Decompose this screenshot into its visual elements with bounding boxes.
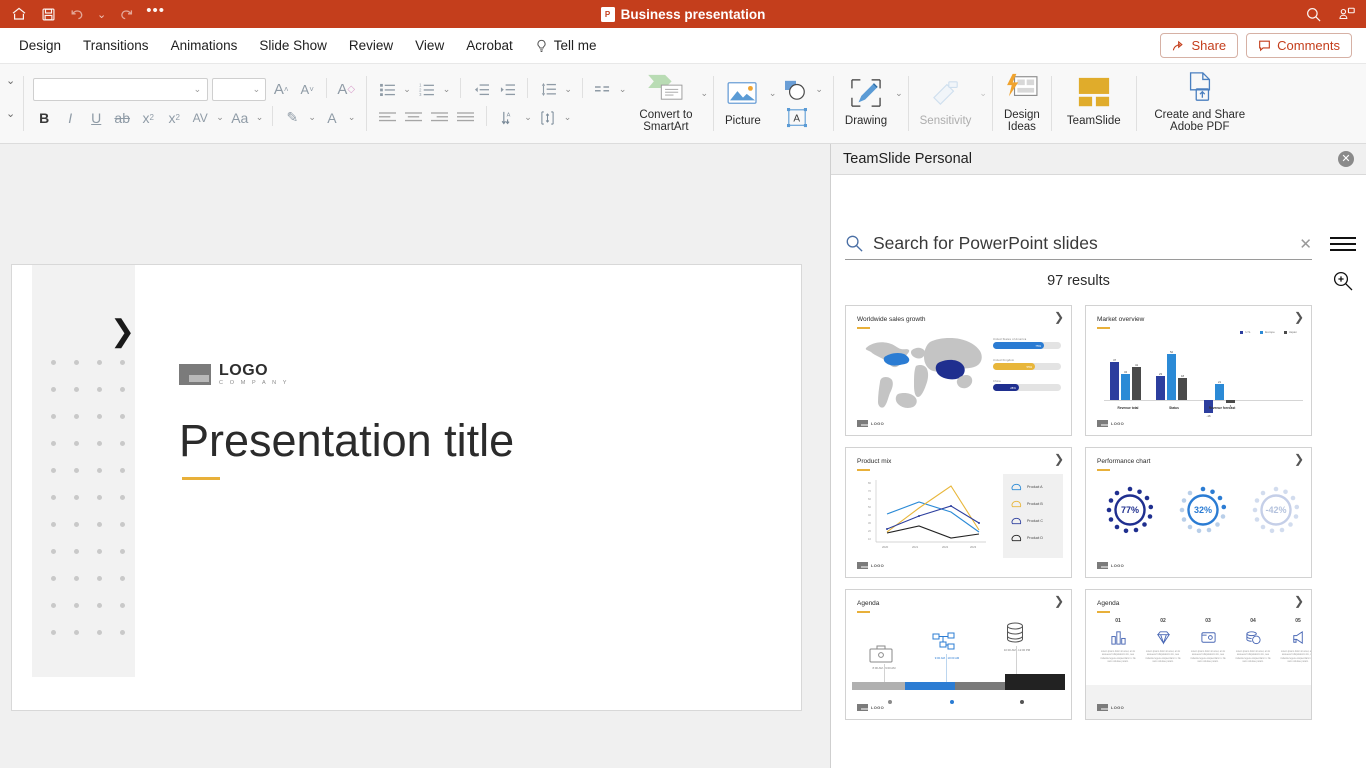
svg-text:70: 70 [868, 489, 871, 493]
justify-button[interactable] [454, 106, 476, 130]
menu-item-transitions[interactable]: Transitions [72, 33, 160, 58]
chevron-down-icon[interactable]: ⌄ [402, 84, 412, 95]
bar-fill: 55% [993, 363, 1035, 370]
divider [1051, 76, 1052, 131]
close-icon[interactable]: ✕ [1338, 151, 1354, 167]
svg-text:3: 3 [419, 92, 422, 96]
document-title-group: P Business presentation [0, 7, 1366, 22]
create-share-adobe-pdf-button[interactable]: Create and Share Adobe PDF [1141, 64, 1259, 136]
font-color-button[interactable]: A [321, 106, 343, 130]
shapes-button[interactable] [782, 78, 810, 102]
align-left-button[interactable] [376, 106, 398, 130]
chevron-down-icon[interactable]: ⌄ [215, 112, 225, 123]
drawing-button[interactable]: Drawing [838, 64, 894, 136]
chart-legend: Product A Product B Product C [1003, 474, 1063, 558]
world-map-graphic [858, 332, 982, 414]
donut-value: -42% [1252, 486, 1300, 534]
timeline-segment [955, 682, 1005, 690]
thumbnail-logo: LOGO [1097, 420, 1124, 427]
panel-title: TeamSlide Personal [843, 151, 972, 167]
chevron-right-icon[interactable]: ❯ [1294, 453, 1304, 465]
svg-text:2020: 2020 [882, 545, 889, 549]
cloud-icon [1011, 517, 1022, 525]
bar-track: 28% [993, 384, 1061, 391]
thumbnail-logo: LOGO [1097, 704, 1124, 711]
timeline-track [852, 682, 1065, 690]
chevron-right-icon[interactable]: ❯ [1294, 311, 1304, 323]
chevron-down-icon: ⌄ [194, 84, 202, 95]
slide-thumbnail-card[interactable]: ❯ Product mix 807060 504030 2010 202 [845, 447, 1072, 578]
category-label: Status [1150, 406, 1198, 410]
menu-bar: Design Transitions Animations Slide Show… [0, 28, 1366, 64]
text-box-button[interactable]: A [784, 106, 810, 130]
adobe-pdf-label-line2: Adobe PDF [1170, 121, 1229, 133]
convert-smartart-label-line1: Convert to [639, 109, 692, 121]
bar-fill: 75% [993, 342, 1044, 349]
panel-header: TeamSlide Personal ✕ [831, 144, 1366, 175]
timeline-time-label: 9:00 AM - 10:00 AM [916, 656, 978, 660]
divider [713, 76, 714, 131]
timeline-time-label: 12:00 PM - 1:00 PM [1060, 636, 1072, 640]
donut-chart: -42% [1252, 486, 1300, 534]
convert-smartart-label-line2: SmartArt [643, 121, 688, 133]
current-slide[interactable]: ❯ LOGO C O M P A N Y Presentation title [12, 265, 801, 710]
sensitivity-button[interactable]: Sensitivity [913, 64, 979, 136]
more-icon[interactable]: ••• [146, 7, 165, 21]
slide-thumbnail-card[interactable]: ❯ Worldwide sales growth [845, 305, 1072, 436]
chevron-down-icon[interactable]: ⌄ [347, 112, 357, 123]
font-group: ⌄ ⌄ A˄ A˅ A◇ B I U ab x2 x2 AV ⌄ Aa [28, 64, 362, 143]
redo-icon[interactable] [117, 5, 135, 23]
picture-icon [727, 74, 759, 112]
wallet-icon [1186, 627, 1230, 647]
workspace: ❯ LOGO C O M P A N Y Presentation title [0, 144, 1366, 768]
ribbon-overflow-chevrons[interactable]: ⌄ ⌄ [2, 64, 19, 130]
step-body-text: Lorem ipsum dolor sit amet, at vix assue… [1276, 651, 1312, 665]
superscript-button[interactable]: x2 [137, 106, 159, 130]
grow-font-button[interactable]: A˄ [270, 78, 292, 102]
results-count: 97 results [845, 273, 1312, 289]
timeline-time-label: 10:00 AM - 12:00 PM [988, 648, 1046, 652]
coins-icon [1231, 627, 1275, 647]
undo-dropdown-icon[interactable]: ⌄ [97, 8, 106, 21]
font-size-input[interactable]: ⌄ [212, 78, 266, 101]
adobe-pdf-label-line1: Create and Share [1154, 109, 1245, 121]
sensitivity-icon [930, 74, 962, 112]
menu-item-animations[interactable]: Animations [160, 33, 249, 58]
hamburger-menu-icon[interactable] [1330, 237, 1356, 251]
svg-text:10: 10 [868, 537, 871, 541]
megaphone-icon [1276, 627, 1312, 647]
divider [366, 76, 367, 131]
numbered-list-button[interactable]: 1 2 3 [416, 78, 438, 102]
thumbnail-title: Product mix [857, 458, 891, 465]
search-bar[interactable]: Search for PowerPoint slides ✕ [845, 233, 1312, 260]
chevron-down-icon[interactable]: ⌄ [894, 88, 904, 99]
teamslide-label: TeamSlide [1067, 115, 1121, 127]
svg-text:A: A [794, 113, 801, 124]
chevron-down-icon[interactable]: ⌄ [6, 107, 15, 120]
panel-side-toolbar [1320, 175, 1366, 768]
category-label: Revenue forecast [1196, 406, 1248, 410]
slide-results-grid: ❯ Worldwide sales growth [845, 305, 1312, 720]
chevron-down-icon[interactable]: ⌄ [563, 112, 573, 123]
teamslide-button[interactable]: TeamSlide [1056, 64, 1132, 136]
database-icon [1004, 622, 1026, 644]
divider [1136, 76, 1137, 131]
step-body-text: Lorem ipsum dolor sit amet, at vix assue… [1141, 651, 1185, 665]
chevron-down-icon[interactable]: ⌄ [6, 74, 15, 87]
bullet-list-button[interactable] [376, 78, 398, 102]
step-number: 01 [1096, 618, 1140, 624]
logo-mark-icon [179, 364, 211, 385]
dot-grid-decoration [51, 360, 143, 657]
picture-button[interactable]: Picture [718, 64, 768, 136]
chevron-right-icon[interactable]: ❯ [1294, 595, 1304, 607]
shrink-font-button[interactable]: A˅ [296, 78, 318, 102]
increase-indent-button[interactable] [496, 78, 518, 102]
decrease-indent-button[interactable] [470, 78, 492, 102]
teamslide-icon [1072, 74, 1116, 112]
collaborators-icon[interactable] [1338, 5, 1356, 23]
powerpoint-icon: P [601, 7, 615, 22]
comments-label: Comments [1277, 38, 1340, 53]
line-spacing-button[interactable] [537, 78, 559, 102]
title-underline-accent [182, 477, 220, 480]
comments-button[interactable]: Comments [1246, 33, 1352, 58]
chevron-down-icon[interactable]: ⌄ [618, 84, 628, 95]
sensitivity-label: Sensitivity [920, 115, 972, 127]
svg-text:30: 30 [868, 521, 871, 525]
bold-button[interactable]: B [33, 106, 55, 130]
donut-chart: 32% [1179, 486, 1227, 534]
step-number: 05 [1276, 618, 1312, 624]
bar-label: United Kingdom [993, 359, 1061, 362]
slide-canvas-area: ❯ LOGO C O M P A N Y Presentation title [0, 144, 830, 768]
columns-button[interactable] [592, 78, 614, 102]
title-bar: ⌄ ••• P Business presentation [0, 0, 1366, 28]
align-text-button[interactable] [537, 106, 559, 130]
slide-thumbnail-card[interactable]: ❯ Agenda 8:00 AM - 9:00 AM 9:00 AM - [845, 589, 1072, 720]
donut-value: 32% [1179, 486, 1227, 534]
legend-label: Product C [1027, 519, 1043, 523]
menu-item-acrobat[interactable]: Acrobat [455, 33, 524, 58]
thumbnail-title: Agenda [1097, 600, 1119, 607]
cloud-icon [1011, 534, 1022, 542]
chevron-down-icon[interactable]: ⌄ [768, 88, 778, 99]
smartart-icon [646, 68, 686, 106]
step-number: 03 [1186, 618, 1230, 624]
svg-text:2023: 2023 [970, 545, 977, 549]
bar-label: China [993, 380, 1061, 383]
chevron-down-icon[interactable]: ⌄ [307, 112, 317, 123]
search-icon[interactable] [1304, 5, 1322, 23]
picture-label: Picture [725, 115, 761, 127]
bar-track: 55% [993, 363, 1061, 370]
network-nodes-icon [932, 632, 958, 654]
design-ideas-label-line1: Design [1004, 109, 1040, 121]
chevron-down-icon[interactable]: ⌄ [699, 88, 709, 99]
logo-name: LOGO [219, 363, 289, 379]
align-center-button[interactable] [402, 106, 424, 130]
search-input[interactable]: Search for PowerPoint slides [873, 233, 1290, 254]
chevron-right-icon[interactable]: ❯ [1054, 453, 1064, 465]
italic-button[interactable]: I [59, 106, 81, 130]
share-button[interactable]: Share [1160, 33, 1238, 58]
undo-icon[interactable] [68, 5, 86, 23]
svg-text:60: 60 [868, 497, 871, 501]
chevron-right-icon[interactable]: ❯ [1054, 595, 1064, 607]
drawing-label: Drawing [845, 115, 887, 127]
comment-icon [1258, 39, 1271, 52]
divider [833, 76, 834, 131]
adobe-pdf-icon [1184, 68, 1216, 106]
title-bar-quick-access: ⌄ ••• [10, 5, 165, 23]
legend-label: Product D [1027, 536, 1043, 540]
svg-text:2022: 2022 [942, 545, 949, 549]
step-body-text: Lorem ipsum dolor sit amet, at vix assue… [1186, 651, 1230, 665]
chevron-down-icon[interactable]: ⌄ [563, 84, 573, 95]
design-ideas-icon [1005, 68, 1039, 106]
text-direction-button[interactable]: A [497, 106, 519, 130]
thumbnail-title: Market overview [1097, 316, 1144, 323]
step-number: 02 [1141, 618, 1185, 624]
clear-search-icon[interactable]: ✕ [1299, 235, 1312, 253]
strikethrough-button[interactable]: ab [111, 106, 133, 130]
svg-text:2021: 2021 [912, 545, 919, 549]
divider [908, 76, 909, 131]
thumbnail-logo: LOGO [1097, 562, 1124, 569]
thumbnail-logo: LOGO [857, 562, 884, 569]
chevron-down-icon[interactable]: ⌄ [814, 84, 824, 95]
menu-item-design[interactable]: Design [8, 33, 72, 58]
slide-thumbnail-card[interactable]: ❯ Agenda 01 Lorem ipsum dolor s [1085, 589, 1312, 720]
lightbulb-icon [535, 39, 548, 53]
svg-text:40: 40 [868, 513, 871, 517]
text-highlight-button[interactable]: ✎ [281, 106, 303, 130]
donut-value: 77% [1106, 486, 1154, 534]
diamond-icon [1141, 627, 1185, 647]
thumbnail-footer-band [1086, 685, 1311, 719]
convert-to-smartart-button[interactable]: Convert to SmartArt [632, 64, 699, 136]
align-right-button[interactable] [428, 106, 450, 130]
line-chart-graphic: 807060 504030 2010 20202021 20222023 [860, 476, 990, 556]
chevron-down-icon[interactable]: ⌄ [442, 84, 452, 95]
svg-text:50: 50 [868, 505, 871, 509]
timeline-segment [1005, 674, 1065, 690]
thumbnail-logo: LOGO [857, 704, 884, 711]
menu-item-view[interactable]: View [404, 33, 455, 58]
share-label: Share [1191, 38, 1226, 53]
chart-legend: U.S. Europe Japan [1240, 330, 1297, 334]
bar-label: United States of America [993, 338, 1061, 341]
chevron-down-icon[interactable]: ⌄ [255, 112, 265, 123]
timeline-segment [852, 682, 905, 690]
svg-text:A: A [506, 112, 510, 118]
shapes-textbox-group: ⌄ A [777, 64, 829, 143]
svg-text:80: 80 [868, 481, 871, 485]
cloud-icon [1011, 483, 1022, 491]
tell-me-button[interactable]: Tell me [524, 33, 608, 58]
bar-fill: 28% [993, 384, 1019, 391]
share-icon [1172, 39, 1185, 52]
horizontal-bar-chart: United States of America 75% United King… [993, 338, 1061, 401]
design-ideas-label-line2: Ideas [1008, 121, 1036, 133]
bar-track: 75% [993, 342, 1061, 349]
tell-me-label: Tell me [554, 38, 597, 53]
slide-thumbnail-card[interactable]: ❯ Performance chart [1085, 447, 1312, 578]
paragraph-group: ⌄ 1 2 3 ⌄ [371, 64, 632, 143]
svg-text:20: 20 [868, 529, 871, 533]
thumbnail-logo: LOGO [857, 420, 884, 427]
ribbon-toolbar: ⌄ ⌄ ⌄ ⌄ A˄ A˅ A◇ B I U ab x2 [0, 64, 1366, 144]
document-title: Business presentation [621, 7, 766, 22]
logo-subtitle: C O M P A N Y [219, 381, 289, 387]
home-icon[interactable] [10, 5, 28, 23]
legend-label: Product A [1027, 485, 1043, 489]
divider [23, 76, 24, 131]
grouped-bar-chart: 47 34 41 Revenue total 23 52 18 Status [1104, 342, 1303, 413]
font-name-input[interactable]: ⌄ [33, 78, 208, 101]
thumbnail-title: Worldwide sales growth [857, 316, 926, 323]
step-body-text: Lorem ipsum dolor sit amet, at vix assue… [1096, 651, 1140, 665]
cloud-icon [1011, 500, 1022, 508]
step-number: 04 [1231, 618, 1275, 624]
design-ideas-button[interactable]: Design Ideas [997, 64, 1047, 136]
search-icon [845, 234, 864, 253]
zoom-in-icon[interactable] [1331, 269, 1355, 293]
drawing-icon [850, 74, 882, 112]
thumbnail-title: Agenda [857, 600, 879, 607]
briefcase-icon [868, 644, 894, 664]
legend-label: U.S. [1245, 330, 1251, 334]
divider [992, 76, 993, 131]
category-label: Revenue total [1104, 406, 1152, 410]
legend-label: Japan [1289, 330, 1297, 334]
character-spacing-button[interactable]: AV [189, 106, 211, 130]
chevron-right-icon: ❯ [110, 317, 135, 347]
teamslide-panel: TeamSlide Personal ✕ Search for PowerPoi… [830, 144, 1366, 768]
chevron-right-icon[interactable]: ❯ [1054, 311, 1064, 323]
bar-chart-icon [1096, 627, 1140, 647]
donut-chart: 77% [1106, 486, 1154, 534]
change-case-button[interactable]: Aa [229, 106, 251, 130]
underline-button[interactable]: U [85, 106, 107, 130]
chevron-down-icon[interactable]: ⌄ [978, 88, 988, 99]
thumbnail-title: Performance chart [1097, 458, 1150, 465]
slide-logo: LOGO C O M P A N Y [179, 363, 289, 387]
timeline-segment [905, 682, 955, 690]
save-icon[interactable] [39, 5, 57, 23]
step-body-text: Lorem ipsum dolor sit amet, at vix assue… [1231, 651, 1275, 665]
clear-formatting-button[interactable]: A◇ [335, 78, 357, 102]
legend-label: Product B [1027, 502, 1043, 506]
subscript-button[interactable]: x2 [163, 106, 185, 130]
menu-item-review[interactable]: Review [338, 33, 404, 58]
slide-thumbnail-card[interactable]: ❯ Market overview U.S. Europe Japan 47 3… [1085, 305, 1312, 436]
chevron-down-icon[interactable]: ⌄ [523, 112, 533, 123]
slide-title-text[interactable]: Presentation title [179, 415, 514, 467]
chevron-down-icon: ⌄ [253, 84, 261, 95]
legend-label: Europe [1265, 330, 1275, 334]
menu-item-slide-show[interactable]: Slide Show [248, 33, 338, 58]
